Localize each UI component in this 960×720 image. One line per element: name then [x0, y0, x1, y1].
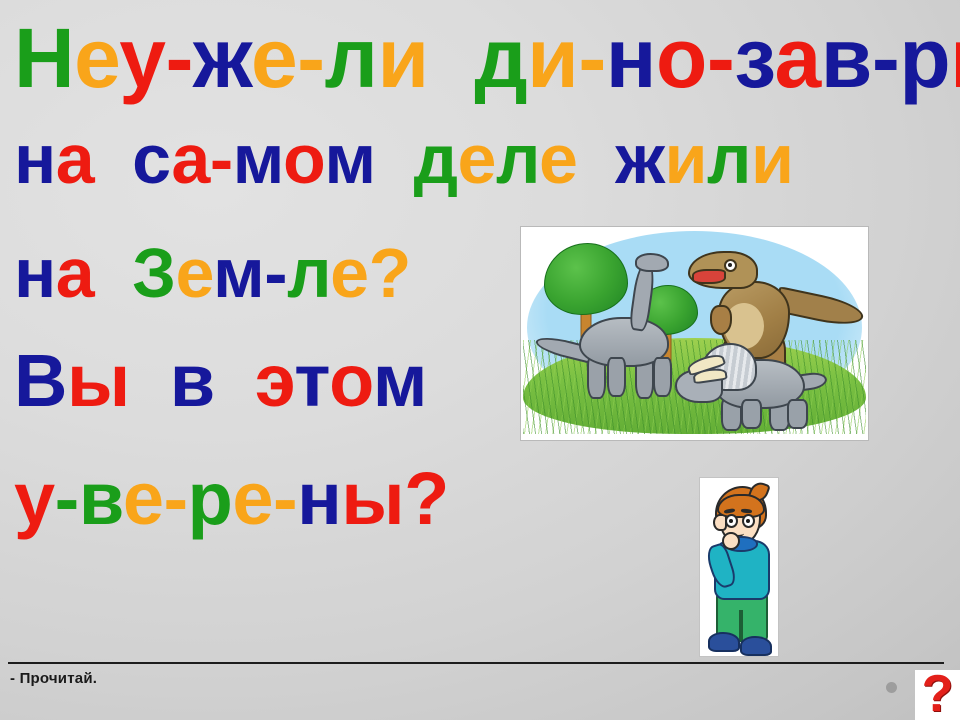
thinking-boy-image	[700, 478, 778, 656]
glyph	[577, 120, 615, 198]
glyph	[376, 120, 414, 198]
glyph: -	[273, 457, 297, 540]
glyph: е	[232, 457, 273, 540]
glyph: -	[578, 11, 605, 105]
glyph: м	[373, 339, 427, 422]
boy-fringe	[717, 494, 765, 518]
glyph: ?	[404, 457, 449, 540]
glyph: р	[188, 457, 233, 540]
glyph: ы	[67, 339, 130, 422]
glyph: д	[474, 11, 527, 105]
slide-canvas: Неу-же-ли ди-но-зав-ры на са-мом деле жи…	[0, 0, 960, 720]
boy-eye	[725, 514, 738, 528]
glyph: у	[14, 457, 55, 540]
glyph: В	[14, 339, 67, 422]
bullet-dot	[886, 682, 897, 693]
glyph: З	[132, 234, 175, 312]
glyph: н	[14, 234, 56, 312]
triceratops-leg	[787, 399, 808, 429]
theropod-arm	[710, 305, 732, 335]
boy-shoe	[708, 632, 740, 652]
glyph: н	[297, 457, 341, 540]
text-line-1: Неу-же-ли ди-но-зав-ры	[14, 16, 960, 100]
glyph: р	[899, 11, 950, 105]
glyph: ж	[615, 120, 664, 198]
glyph: -	[163, 457, 187, 540]
glyph: о	[329, 339, 373, 422]
glyph: е	[175, 234, 213, 312]
glyph: з	[734, 11, 774, 105]
glyph	[215, 339, 255, 422]
glyph: е	[123, 457, 164, 540]
question-mark-icon: ?	[922, 670, 954, 720]
text-line-3: на Зем-ле?	[14, 238, 411, 308]
boy-eye	[742, 514, 755, 528]
glyph: д	[414, 120, 458, 198]
boy-figure	[700, 478, 778, 656]
glyph: -	[55, 457, 79, 540]
glyph: а	[171, 120, 209, 198]
glyph: а	[56, 120, 94, 198]
glyph: в	[170, 339, 215, 422]
triceratops-leg	[741, 399, 762, 429]
glyph: н	[14, 120, 56, 198]
glyph: ы	[341, 457, 404, 540]
glyph: -	[872, 11, 899, 105]
dinosaur-scene-image	[521, 227, 868, 440]
glyph: -	[264, 234, 287, 312]
glyph: т	[294, 339, 329, 422]
text-line-2: на са-мом деле жили	[14, 124, 794, 194]
glyph: а	[56, 234, 94, 312]
glyph: о	[656, 11, 707, 105]
glyph: е	[74, 11, 119, 105]
glyph: Н	[14, 11, 74, 105]
theropod-eye	[724, 259, 737, 272]
glyph: л	[325, 11, 378, 105]
glyph: э	[255, 339, 294, 422]
glyph: в	[821, 11, 872, 105]
glyph: е	[458, 120, 496, 198]
glyph: -	[297, 11, 324, 105]
theropod-mouth	[692, 269, 726, 284]
glyph	[94, 234, 132, 312]
glyph: и	[378, 11, 429, 105]
glyph: и	[527, 11, 578, 105]
glyph: е	[251, 11, 297, 105]
glyph: н	[606, 11, 656, 105]
boy-hand	[722, 532, 740, 550]
glyph: в	[79, 457, 123, 540]
glyph: л	[707, 120, 751, 198]
glyph: и	[751, 120, 794, 198]
footer-divider	[8, 662, 944, 664]
glyph: ы	[950, 11, 960, 105]
glyph: ж	[193, 11, 251, 105]
glyph: е	[330, 234, 368, 312]
glyph: м	[233, 120, 283, 198]
glyph	[429, 11, 475, 105]
glyph: у	[119, 11, 165, 105]
glyph: о	[283, 120, 324, 198]
glyph	[130, 339, 170, 422]
glyph	[94, 120, 132, 198]
glyph: е	[539, 120, 577, 198]
glyph: л	[287, 234, 330, 312]
text-line-4: Вы в этом	[14, 344, 427, 418]
glyph: с	[132, 120, 171, 198]
sauropod-head	[635, 253, 669, 272]
glyph: л	[496, 120, 539, 198]
sauropod-dinosaur	[541, 255, 681, 395]
glyph: ?	[369, 234, 411, 312]
glyph: а	[775, 11, 821, 105]
glyph: и	[664, 120, 707, 198]
glyph: -	[166, 11, 193, 105]
triceratops-dinosaur	[669, 339, 821, 429]
sauropod-leg	[607, 357, 626, 397]
text-line-5: у-ве-ре-ны?	[14, 462, 449, 536]
boy-shoe	[740, 636, 772, 656]
footer-instruction-text: - Прочитай.	[10, 670, 97, 687]
glyph: м	[213, 234, 264, 312]
glyph: м	[324, 120, 375, 198]
glyph: -	[210, 120, 233, 198]
glyph: -	[707, 11, 734, 105]
question-mark-badge[interactable]: ?	[915, 670, 960, 720]
